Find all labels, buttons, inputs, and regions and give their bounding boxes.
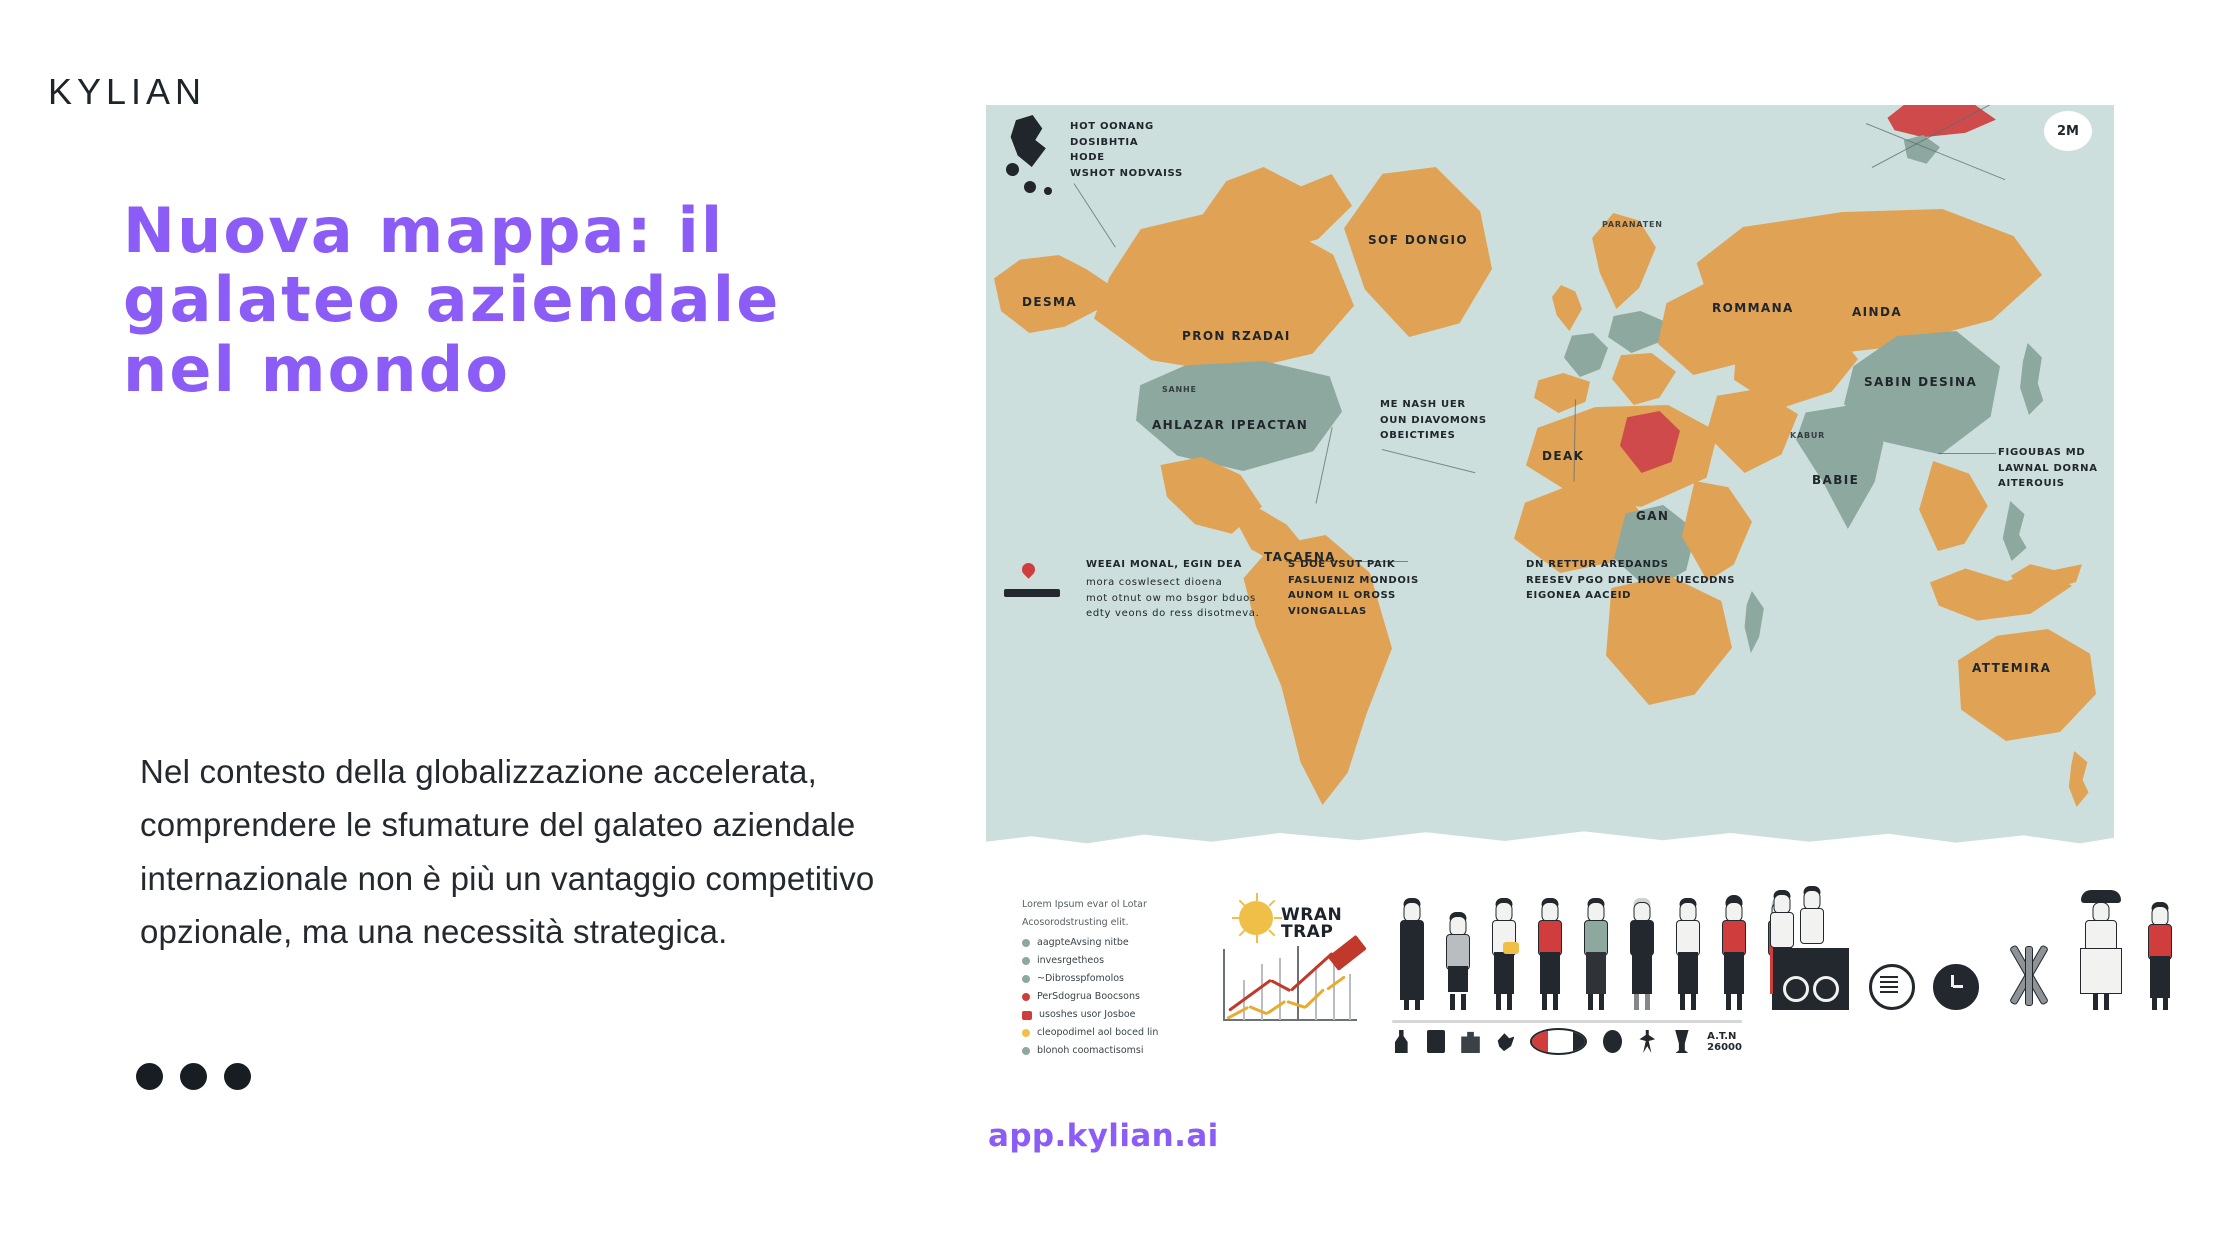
legend-item: usoshes usor Josboe bbox=[1022, 1006, 1212, 1024]
torso bbox=[1630, 920, 1654, 956]
brand-logo: KYLIAN bbox=[48, 74, 206, 110]
map-label-alaska: DESMA bbox=[1022, 295, 1077, 309]
land-philippines bbox=[1998, 501, 2032, 561]
legs bbox=[1633, 994, 1651, 1010]
clock-badge-icon bbox=[1933, 964, 1979, 1010]
right-illustration-group bbox=[1765, 890, 2177, 1010]
head bbox=[1680, 902, 1697, 922]
legend-swatch bbox=[1022, 939, 1030, 947]
dark-panel bbox=[1773, 948, 1849, 1010]
skirt bbox=[2080, 948, 2122, 994]
lower-body bbox=[1448, 966, 1468, 992]
map-label-kabur: KABUR bbox=[1790, 431, 1825, 440]
atm-label: A.T.N 26000 bbox=[1707, 1031, 1742, 1053]
figure-icon bbox=[1638, 1030, 1657, 1053]
lower-body bbox=[1540, 952, 1560, 994]
traditional-dress-figure bbox=[2077, 894, 2125, 1010]
legs bbox=[1449, 994, 1467, 1010]
land-usa bbox=[1136, 361, 1342, 471]
legs bbox=[1403, 994, 1421, 1010]
head bbox=[1804, 890, 1821, 910]
dot-2 bbox=[180, 1063, 207, 1090]
map-label-mongolia: AINDA bbox=[1852, 305, 1902, 319]
head bbox=[1404, 902, 1421, 922]
figure-3 bbox=[1487, 898, 1521, 1010]
torso bbox=[1722, 920, 1746, 956]
page-title: Nuova mappa: il galateo aziendale nel mo… bbox=[123, 196, 953, 404]
legs bbox=[2151, 994, 2169, 1010]
legs bbox=[1541, 994, 1559, 1010]
legs bbox=[1587, 994, 1605, 1010]
head bbox=[1726, 902, 1743, 922]
pagination-dots bbox=[136, 1063, 251, 1090]
map-label-sanhe: SANHE bbox=[1162, 385, 1197, 394]
head bbox=[2152, 906, 2169, 926]
land-japan bbox=[2014, 343, 2048, 415]
people-illustration-row bbox=[1395, 898, 1797, 1010]
map-label-russia: ROMMANA bbox=[1712, 301, 1794, 315]
torso bbox=[1584, 920, 1608, 956]
head bbox=[1634, 902, 1651, 922]
sun-icon bbox=[1239, 901, 1273, 935]
map-label-usa: AHLAZAR IPEACTAN bbox=[1152, 418, 1308, 432]
bell-icon bbox=[1603, 1030, 1622, 1053]
legs bbox=[1725, 994, 1743, 1010]
legend-item: cleopodimel aol boced lin bbox=[1022, 1024, 1212, 1042]
map-callout-top-left: HOT OONANG DOSIBHTIA HODE WSHOT NODVAISS bbox=[1070, 119, 1183, 181]
crossed-tools-icon bbox=[1997, 938, 2059, 1010]
legend-swatch bbox=[1022, 1029, 1030, 1037]
figure-4 bbox=[1533, 898, 1567, 1010]
legend-swatch bbox=[1022, 975, 1030, 983]
torso bbox=[1400, 920, 1424, 956]
chart-line-yellow bbox=[1249, 1005, 1268, 1015]
held-object-icon bbox=[1503, 942, 1519, 954]
world-map-infographic: SOF DONGIO DESMA PRON RZADAI AHLAZAR IPE… bbox=[986, 105, 2114, 857]
lower-body bbox=[1494, 952, 1514, 994]
land-greenland bbox=[1344, 167, 1492, 337]
torso bbox=[1446, 934, 1470, 970]
lower-body bbox=[1586, 952, 1606, 994]
leader-line-6 bbox=[1938, 453, 1996, 454]
map-label-paranaten: PARANATEN bbox=[1602, 220, 1663, 229]
torso bbox=[2148, 924, 2172, 960]
leader-line-1 bbox=[1074, 183, 1116, 247]
figure-1 bbox=[1395, 898, 1429, 1010]
chart-headline: WRAN TRAP bbox=[1281, 907, 1342, 942]
legend-swatch bbox=[1022, 1011, 1032, 1020]
leader-line-2 bbox=[1382, 449, 1475, 473]
legend-swatch bbox=[1022, 1047, 1030, 1055]
dot-3 bbox=[224, 1063, 251, 1090]
figure-7 bbox=[1671, 898, 1705, 1010]
map-callout-africa: S DOE VSUT PAIK FASLUENIZ MONDOIS AUNOM … bbox=[1288, 557, 1419, 619]
wheel-icon bbox=[1783, 976, 1809, 1002]
land-australia bbox=[1946, 629, 2096, 741]
land-italy-balkans bbox=[1612, 353, 1676, 405]
map-callout-asia: DN RETTUR AREDANDS REESEV PGO DNE HOVE U… bbox=[1526, 557, 1735, 604]
head bbox=[1450, 916, 1467, 936]
dot-1 bbox=[136, 1063, 163, 1090]
map-label-canada: PRON RZADAI bbox=[1182, 329, 1291, 343]
land-antarctica bbox=[986, 817, 2114, 857]
map-label-china: SABIN DESINA bbox=[1864, 373, 1977, 391]
legend-item: aagpteAvsing nitbe bbox=[1022, 934, 1212, 952]
map-callout-lower-left-title: WEEAI MONAL, EGIN DEA bbox=[1086, 557, 1242, 573]
land-iberia bbox=[1534, 373, 1590, 413]
legend-label: invesrgetheos bbox=[1037, 952, 1104, 970]
bottle-icon bbox=[1392, 1030, 1411, 1053]
chart-y-axis bbox=[1223, 949, 1225, 1021]
tool-center bbox=[2025, 946, 2033, 1006]
lower-body bbox=[2150, 956, 2170, 998]
legend-item: PerSdogrua Boocsons bbox=[1022, 988, 1212, 1006]
land-southeast-asia bbox=[1916, 461, 1994, 551]
legs bbox=[1679, 994, 1697, 1010]
chart-line-yellow bbox=[1326, 975, 1345, 990]
head bbox=[1542, 902, 1559, 922]
torso bbox=[1676, 920, 1700, 956]
map-label-india: BABIE bbox=[1812, 473, 1859, 487]
head bbox=[2093, 902, 2110, 922]
legs bbox=[1495, 994, 1513, 1010]
chart-gridbar bbox=[1279, 958, 1281, 1020]
document-badge-icon bbox=[1869, 964, 1915, 1010]
legend-label: cleopodimel aol boced lin bbox=[1037, 1024, 1158, 1042]
map-callout-mid-left: ME NASH UER OUN DIAVOMONS OBEICTIMES bbox=[1380, 397, 1487, 444]
card-icon bbox=[1427, 1030, 1446, 1053]
lower-body bbox=[1724, 952, 1744, 994]
figure-6 bbox=[1625, 898, 1659, 1010]
map-decor-blob-topleft bbox=[1008, 115, 1052, 167]
torso bbox=[1770, 912, 1794, 948]
torso bbox=[1800, 908, 1824, 944]
lower-body bbox=[1632, 952, 1652, 994]
wheel-icon bbox=[1813, 976, 1839, 1002]
body-paragraph: Nel contesto della globalizzazione accel… bbox=[140, 745, 970, 959]
map-callout-right: FIGOUBAS MD LAWNAL DORNA AITEROUIS bbox=[1998, 445, 2098, 492]
lower-body bbox=[1400, 952, 1424, 1000]
figure-5 bbox=[1579, 898, 1613, 1010]
land-india bbox=[1796, 405, 1892, 529]
legend-label: blonoh coomactisomsi bbox=[1037, 1042, 1143, 1060]
trend-chart-illustration: WRAN TRAP bbox=[1215, 893, 1375, 1038]
figure-8 bbox=[1717, 898, 1751, 1010]
map-decor-dot-3 bbox=[1044, 187, 1052, 195]
land-france bbox=[1564, 333, 1608, 377]
briefcase-icon bbox=[1461, 1030, 1480, 1053]
object-icon-strip: A.T.N 26000 bbox=[1392, 1028, 1742, 1055]
head bbox=[1496, 902, 1513, 922]
lower-body bbox=[1678, 952, 1698, 994]
legend-label: PerSdogrua Boocsons bbox=[1037, 988, 1140, 1006]
map-pin-icon bbox=[1019, 560, 1037, 578]
boat-icon bbox=[1530, 1028, 1587, 1055]
land-madagascar bbox=[1742, 591, 1768, 653]
legs bbox=[2092, 994, 2110, 1010]
legend-heading: Lorem Ipsum evar ol Lotar Acosorodstrust… bbox=[1022, 896, 1212, 932]
land-uk bbox=[1552, 285, 1582, 331]
map-label-australia: ATTEMIRA bbox=[1972, 661, 2051, 675]
bird-icon bbox=[1496, 1030, 1515, 1053]
businessmen-panel-illustration bbox=[1765, 890, 1851, 1010]
map-label-greenland: SOF DONGIO bbox=[1368, 233, 1468, 247]
map-pin-base bbox=[1004, 589, 1060, 597]
map-callout-lower-left-body: mora coswlesect dioena mot otnut ow mo b… bbox=[1086, 575, 1260, 622]
head bbox=[1588, 902, 1605, 922]
map-canvas: SOF DONGIO DESMA PRON RZADAI AHLAZAR IPE… bbox=[986, 105, 2114, 857]
land-germany-poland bbox=[1608, 311, 1664, 353]
figure-2 bbox=[1441, 912, 1475, 1010]
legend-panel: Lorem Ipsum evar ol Lotar Acosorodstrust… bbox=[1022, 896, 1212, 1060]
legend-swatch bbox=[1022, 993, 1030, 1001]
map-decor-dot-2 bbox=[1024, 181, 1036, 193]
legend-swatch bbox=[1022, 957, 1030, 965]
legend-item: blonoh coomactisomsi bbox=[1022, 1042, 1212, 1060]
legend-item: invesrgetheos bbox=[1022, 952, 1212, 970]
legend-label: aagpteAvsing nitbe bbox=[1037, 934, 1129, 952]
chart-gridbar bbox=[1349, 974, 1351, 1020]
legend-label: ~Dibrosspfomolos bbox=[1037, 970, 1124, 988]
head bbox=[1774, 894, 1791, 914]
chart-line-yellow bbox=[1266, 1000, 1286, 1014]
legend-item: ~Dibrosspfomolos bbox=[1022, 970, 1212, 988]
land-new-zealand bbox=[2064, 751, 2094, 807]
torso bbox=[1538, 920, 1562, 956]
land-alaska bbox=[994, 255, 1112, 333]
glass-icon bbox=[1673, 1030, 1692, 1053]
site-url[interactable]: app.kylian.ai bbox=[988, 1118, 1219, 1154]
map-inset-badge: 2M bbox=[2044, 111, 2092, 151]
legend-label: usoshes usor Josboe bbox=[1039, 1006, 1136, 1024]
map-label-algeria: DEAK bbox=[1542, 449, 1584, 463]
map-label-africa: GAN bbox=[1636, 509, 1669, 523]
red-jacket-figure bbox=[2143, 902, 2177, 1010]
map-decor-dot-1 bbox=[1006, 163, 1019, 176]
